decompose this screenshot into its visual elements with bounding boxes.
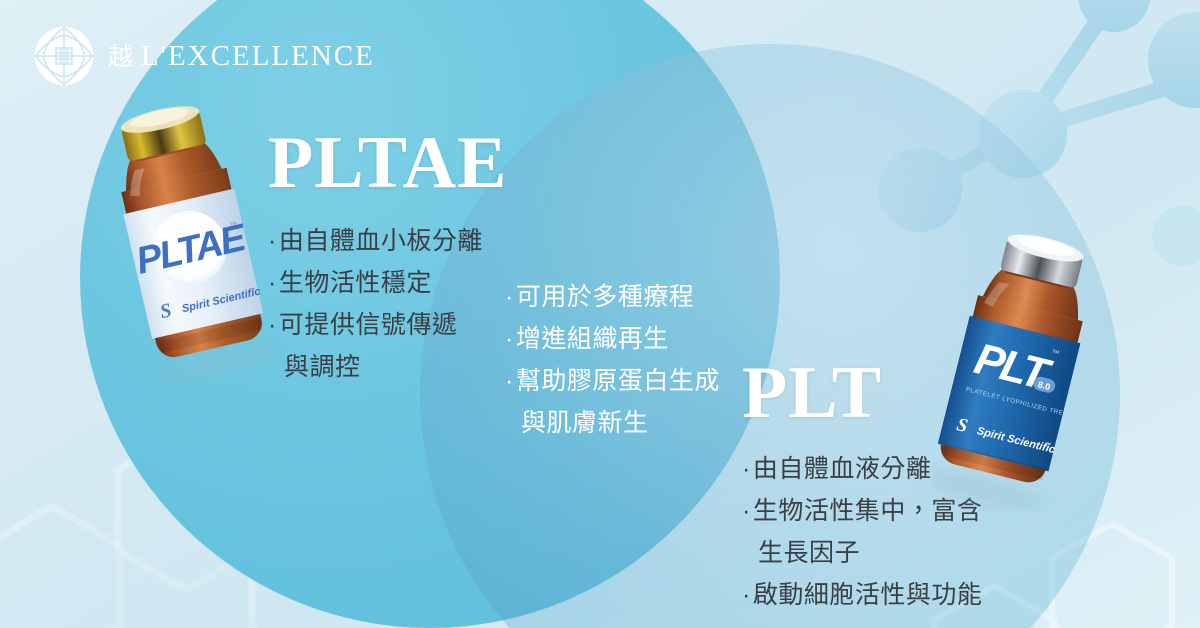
list-item: ·可提供信號傳遞 [268,304,507,346]
list-item-label: 由自體血液分離 [753,455,932,483]
list-item-label: 可提供信號傳遞 [279,311,458,339]
list-item: ·啟動細胞活性與功能 [742,574,982,616]
pltae-panel: PLTAE ·由自體血小板分離 ·生物活性穩定 ·可提供信號傳遞 與調控 [268,126,507,388]
list-item-continuation: 與肌膚新生 [505,402,720,444]
bullet-glyph: · [742,581,751,609]
bullet-glyph: · [742,497,751,525]
overlap-panel: ·可用於多種療程 ·增進組織再生 ·幫助膠原蛋白生成 與肌膚新生 [505,276,720,444]
list-item-continuation: 生長因子 [742,532,982,574]
list-item-label: 與調控 [284,353,361,381]
pltae-bullet-list: ·由自體血小板分離 ·生物活性穩定 ·可提供信號傳遞 與調控 [268,220,507,388]
pltae-title: PLTAE [268,126,507,200]
list-item-continuation: 與調控 [268,346,507,388]
list-item: ·可用於多種療程 [505,276,720,318]
poster-canvas: 越 L'EXCELLENCE [0,0,1200,628]
bullet-glyph: · [505,325,514,353]
brand-logo[interactable]: 越 L'EXCELLENCE [34,26,375,86]
list-item-label: 啟動細胞活性與功能 [753,581,983,609]
list-item-label: 幫助膠原蛋白生成 [516,367,720,395]
brand-wordmark: 越 L'EXCELLENCE [108,42,375,71]
list-item-label: 增進組織再生 [516,325,669,353]
list-item: ·生物活性穩定 [268,262,507,304]
brand-cjk-mark: 越 [108,45,133,70]
bullet-glyph: · [505,283,514,311]
overlap-bullet-list: ·可用於多種療程 ·增進組織再生 ·幫助膠原蛋白生成 與肌膚新生 [505,276,720,444]
list-item: ·幫助膠原蛋白生成 [505,360,720,402]
list-item-label: 生物活性穩定 [279,269,432,297]
list-item-label: 可用於多種療程 [516,283,695,311]
plt-vial: PLT ™ 8.0 PLATELET LYOPHILIZED TREATMENT… [918,228,1108,513]
brand-name: L'EXCELLENCE [141,42,375,71]
pltae-vial: PLTAE ™ S Spirit Scientific ™ [96,104,286,384]
bullet-glyph: · [742,455,751,483]
list-item: ·由自體血小板分離 [268,220,507,262]
excellence-emblem-icon [34,26,94,86]
list-item-label: 與肌膚新生 [521,409,649,437]
list-item-label: 由自體血小板分離 [279,227,483,255]
list-item-label: 生長因子 [758,539,860,567]
list-item: ·增進組織再生 [505,318,720,360]
bullet-glyph: · [505,367,514,395]
